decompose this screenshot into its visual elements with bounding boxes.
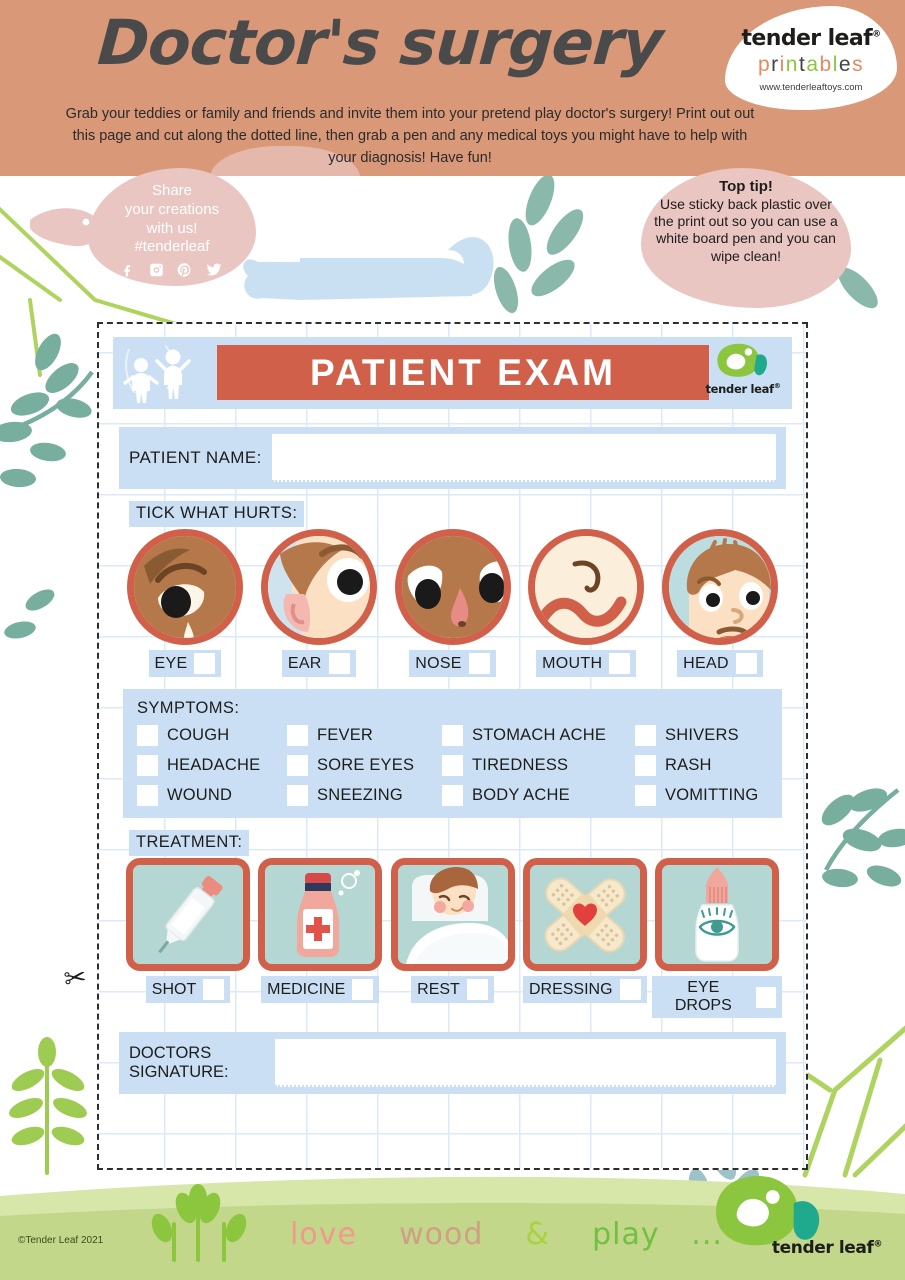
tagline-love: love xyxy=(290,1217,357,1252)
treatment-label-shot: SHOT xyxy=(152,981,196,999)
symptom-item[interactable]: BODY ACHE xyxy=(442,785,635,806)
symptom-checkbox-stomach-ache[interactable] xyxy=(442,725,463,746)
treatment-heading: TREATMENT: xyxy=(129,830,249,856)
hurt-label-mouth: MOUTH xyxy=(542,655,602,673)
hurt-caption-eye: EYE xyxy=(149,650,222,677)
tip-title: Top tip! xyxy=(719,178,773,195)
registered-mark: ® xyxy=(872,30,880,40)
hurt-caption-mouth: MOUTH xyxy=(536,650,636,677)
hurt-option-head[interactable]: HEAD xyxy=(658,529,782,677)
symptom-item[interactable]: FEVER xyxy=(287,725,442,746)
pinterest-icon[interactable] xyxy=(177,262,192,278)
tick-what-hurts-heading: TICK WHAT HURTS: xyxy=(129,501,304,527)
symptom-checkbox-body-ache[interactable] xyxy=(442,785,463,806)
brand-url: www.tenderleaftoys.com xyxy=(725,82,897,93)
hurt-option-ear[interactable]: EAR xyxy=(257,529,381,677)
tender-leaf-logo-label: tender leaf® xyxy=(700,382,786,396)
hurt-label-ear: EAR xyxy=(288,655,322,673)
symptom-item[interactable]: SORE EYES xyxy=(287,755,442,776)
jumping-kids-icon xyxy=(121,339,205,407)
treatment-checkbox-rest[interactable] xyxy=(467,979,488,1000)
symptom-item[interactable]: TIREDNESS xyxy=(442,755,635,776)
eye-drops-icon xyxy=(655,858,779,971)
symptom-label-body-ache: BODY ACHE xyxy=(472,786,570,805)
treatment-label-dressing: DRESSING xyxy=(529,981,613,999)
patient-exam-title: PATIENT EXAM xyxy=(217,345,709,400)
syringe-icon xyxy=(126,858,250,971)
symptom-item[interactable]: STOMACH ACHE xyxy=(442,725,635,746)
treatment-label-rest: REST xyxy=(417,981,460,999)
header-subtitle: Grab your teddies or family and friends … xyxy=(60,104,760,169)
printable-cut-area: PATIENT EXAM tender leaf® PATIENT NAME: … xyxy=(97,322,808,1170)
treatment-option-rest[interactable]: REST xyxy=(388,858,518,1018)
symptom-checkbox-wound[interactable] xyxy=(137,785,158,806)
copyright-text: ©Tender Leaf 2021 xyxy=(18,1235,103,1246)
share-hashtag: #tenderleaf xyxy=(88,238,256,257)
tender-leaf-logo: tender leaf® xyxy=(700,343,786,403)
brand-printables: printables xyxy=(725,53,897,77)
treatment-caption-medicine: MEDICINE xyxy=(261,976,379,1003)
treatment-row: SHOT xyxy=(123,858,782,1018)
hurt-label-nose: NOSE xyxy=(415,655,462,673)
treatment-caption-shot: SHOT xyxy=(146,976,230,1003)
symptom-item[interactable]: WOUND xyxy=(137,785,287,806)
symptom-label-headache: HEADACHE xyxy=(167,756,260,775)
hurt-caption-nose: NOSE xyxy=(409,650,496,677)
hurts-faces-row: EYE xyxy=(123,529,782,677)
hurt-checkbox-nose[interactable] xyxy=(469,653,490,674)
symptom-label-wound: WOUND xyxy=(167,786,232,805)
patient-name-label: PATIENT NAME: xyxy=(129,448,262,468)
symptoms-grid: COUGH FEVER STOMACH ACHE SHIVERS HEADACH… xyxy=(137,725,768,806)
sheet-title-row: PATIENT EXAM tender leaf® xyxy=(113,337,792,409)
patient-name-input[interactable] xyxy=(272,434,776,482)
page-header: Doctor's surgery Grab your teddies or fa… xyxy=(0,0,905,176)
symptoms-heading: SYMPTOMS: xyxy=(137,699,768,718)
symptom-checkbox-fever[interactable] xyxy=(287,725,308,746)
treatment-caption-dressing: DRESSING xyxy=(523,976,647,1003)
hurt-option-mouth[interactable]: MOUTH xyxy=(524,529,648,677)
tagline-play: play xyxy=(592,1217,660,1252)
doctors-signature-row: DOCTORS SIGNATURE: xyxy=(119,1032,786,1094)
tender-leaf-bird-icon xyxy=(716,343,770,377)
symptom-label-tiredness: TIREDNESS xyxy=(472,756,568,775)
patient-name-row: PATIENT NAME: xyxy=(119,427,786,489)
tagline-wood: wood xyxy=(399,1217,483,1252)
twitter-icon[interactable] xyxy=(206,262,222,278)
share-badge: Share your creations with us! #tenderlea… xyxy=(88,168,256,286)
symptom-checkbox-cough[interactable] xyxy=(137,725,158,746)
footer-tagline: love wood & play ... xyxy=(290,1217,723,1252)
hurt-label-eye: EYE xyxy=(155,655,188,673)
symptom-label-stomach-ache: STOMACH ACHE xyxy=(472,726,606,745)
symptom-label-rash: RASH xyxy=(665,756,712,775)
hurt-caption-ear: EAR xyxy=(282,650,356,677)
symptom-label-fever: FEVER xyxy=(317,726,373,745)
medicine-bottle-icon xyxy=(258,858,382,971)
doctors-signature-label: DOCTORS SIGNATURE: xyxy=(129,1044,261,1082)
page-title: Doctor's surgery xyxy=(0,12,762,74)
hurt-checkbox-mouth[interactable] xyxy=(609,653,630,674)
doctors-signature-input[interactable] xyxy=(275,1039,776,1087)
brand-name: tender leaf® xyxy=(725,26,897,51)
treatment-option-shot[interactable]: SHOT xyxy=(123,858,253,1018)
bandages-icon xyxy=(523,858,647,971)
treatment-option-dressing[interactable]: DRESSING xyxy=(520,858,650,1018)
top-tip-badge: Top tip! Use sticky back plastic over th… xyxy=(641,168,851,308)
share-line-1: Share xyxy=(88,182,256,201)
symptom-label-sneezing: SNEEZING xyxy=(317,786,403,805)
treatment-checkbox-medicine[interactable] xyxy=(352,979,373,1000)
share-line-2: your creations xyxy=(88,201,256,220)
symptom-item[interactable]: COUGH xyxy=(137,725,287,746)
sleeping-child-icon xyxy=(391,858,515,971)
footer-tender-leaf-logo: tender leaf® xyxy=(767,1238,887,1258)
instagram-icon[interactable] xyxy=(149,262,164,278)
treatment-option-eye-drops[interactable]: EYE DROPS xyxy=(652,858,782,1018)
symptom-checkbox-sore-eyes[interactable] xyxy=(287,755,308,776)
face-head-icon xyxy=(662,529,778,645)
face-mouth-icon xyxy=(528,529,644,645)
symptom-label-shivers: SHIVERS xyxy=(665,726,739,745)
treatment-checkbox-dressing[interactable] xyxy=(620,979,641,1000)
symptom-item[interactable]: RASH xyxy=(635,755,768,776)
tagline-ellipsis: ... xyxy=(691,1217,723,1252)
symptom-label-sore-eyes: SORE EYES xyxy=(317,756,414,775)
treatment-label-medicine: MEDICINE xyxy=(267,981,345,999)
treatment-caption-eye-drops: EYE DROPS xyxy=(652,976,782,1018)
hurt-checkbox-ear[interactable] xyxy=(329,653,350,674)
treatment-caption-rest: REST xyxy=(411,976,494,1003)
symptom-checkbox-tiredness[interactable] xyxy=(442,755,463,776)
symptom-checkbox-shivers[interactable] xyxy=(635,725,656,746)
hurt-option-nose[interactable]: NOSE xyxy=(391,529,515,677)
symptom-checkbox-vomitting[interactable] xyxy=(635,785,656,806)
scissors-icon: ✂ xyxy=(62,964,88,994)
hurt-caption-head: HEAD xyxy=(677,650,763,677)
symptom-checkbox-rash[interactable] xyxy=(635,755,656,776)
treatment-checkbox-eye-drops[interactable] xyxy=(756,987,776,1008)
symptom-item[interactable]: HEADACHE xyxy=(137,755,287,776)
tagline-ampersand: & xyxy=(526,1217,550,1252)
face-nose-icon xyxy=(395,529,511,645)
symptom-item[interactable]: SNEEZING xyxy=(287,785,442,806)
treatment-option-medicine[interactable]: MEDICINE xyxy=(255,858,385,1018)
symptom-item[interactable]: SHIVERS xyxy=(635,725,768,746)
face-ear-icon xyxy=(261,529,377,645)
facebook-icon[interactable] xyxy=(122,262,135,278)
symptoms-panel: SYMPTOMS: COUGH FEVER STOMACH ACHE SHIVE… xyxy=(123,689,782,818)
symptom-item[interactable]: VOMITTING xyxy=(635,785,768,806)
hurt-option-eye[interactable]: EYE xyxy=(123,529,247,677)
hurt-checkbox-head[interactable] xyxy=(736,653,757,674)
tip-body: Use sticky back plastic over the print o… xyxy=(653,196,839,264)
footer-logo-label: tender leaf® xyxy=(767,1238,887,1258)
face-eye-icon xyxy=(127,529,243,645)
treatment-label-eye-drops: EYE DROPS xyxy=(658,979,749,1015)
symptom-checkbox-sneezing[interactable] xyxy=(287,785,308,806)
symptom-label-vomitting: VOMITTING xyxy=(665,786,758,805)
symptom-checkbox-headache[interactable] xyxy=(137,755,158,776)
hurt-label-head: HEAD xyxy=(683,655,729,673)
share-line-3: with us! xyxy=(88,220,256,239)
symptom-label-cough: COUGH xyxy=(167,726,229,745)
hurt-checkbox-eye[interactable] xyxy=(194,653,215,674)
treatment-checkbox-shot[interactable] xyxy=(203,979,224,1000)
social-icons xyxy=(88,260,256,280)
